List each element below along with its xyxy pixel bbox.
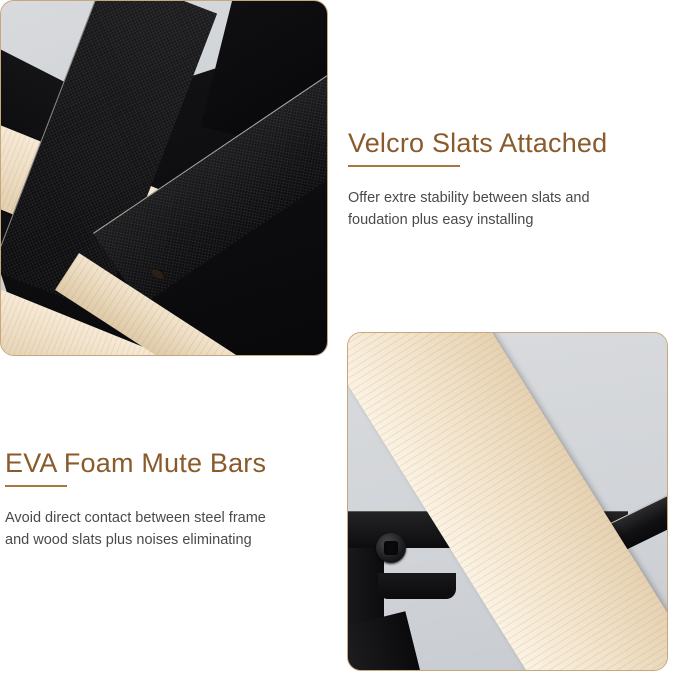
infographic-canvas: Velcro Slats Attached Offer extre stabil… (0, 0, 679, 687)
foam-description-line-2: and wood slats plus noises eliminating (5, 529, 335, 551)
eva-foam-photo (347, 332, 668, 671)
foam-feature-description: Avoid direct contact between steel frame… (5, 507, 335, 552)
velcro-photo-scene (1, 1, 327, 355)
velcro-description-line-2: foudation plus easy installing (348, 209, 666, 231)
foam-feature-title: EVA Foam Mute Bars (5, 448, 335, 479)
foam-photo-scene (348, 333, 667, 670)
velcro-feature-description: Offer extre stability between slats and … (348, 187, 666, 232)
velcro-title-underline (348, 165, 460, 167)
hex-bolt-socket-icon (384, 541, 398, 555)
velcro-feature-title: Velcro Slats Attached (348, 128, 666, 159)
velcro-feature-text: Velcro Slats Attached Offer extre stabil… (348, 128, 666, 231)
frame-bracket-tab (378, 573, 456, 599)
foam-title-underline (5, 485, 67, 487)
foam-description-line-1: Avoid direct contact between steel frame (5, 507, 335, 529)
velcro-description-line-1: Offer extre stability between slats and (348, 187, 666, 209)
velcro-slats-photo (0, 0, 328, 356)
foam-feature-text: EVA Foam Mute Bars Avoid direct contact … (5, 448, 335, 551)
